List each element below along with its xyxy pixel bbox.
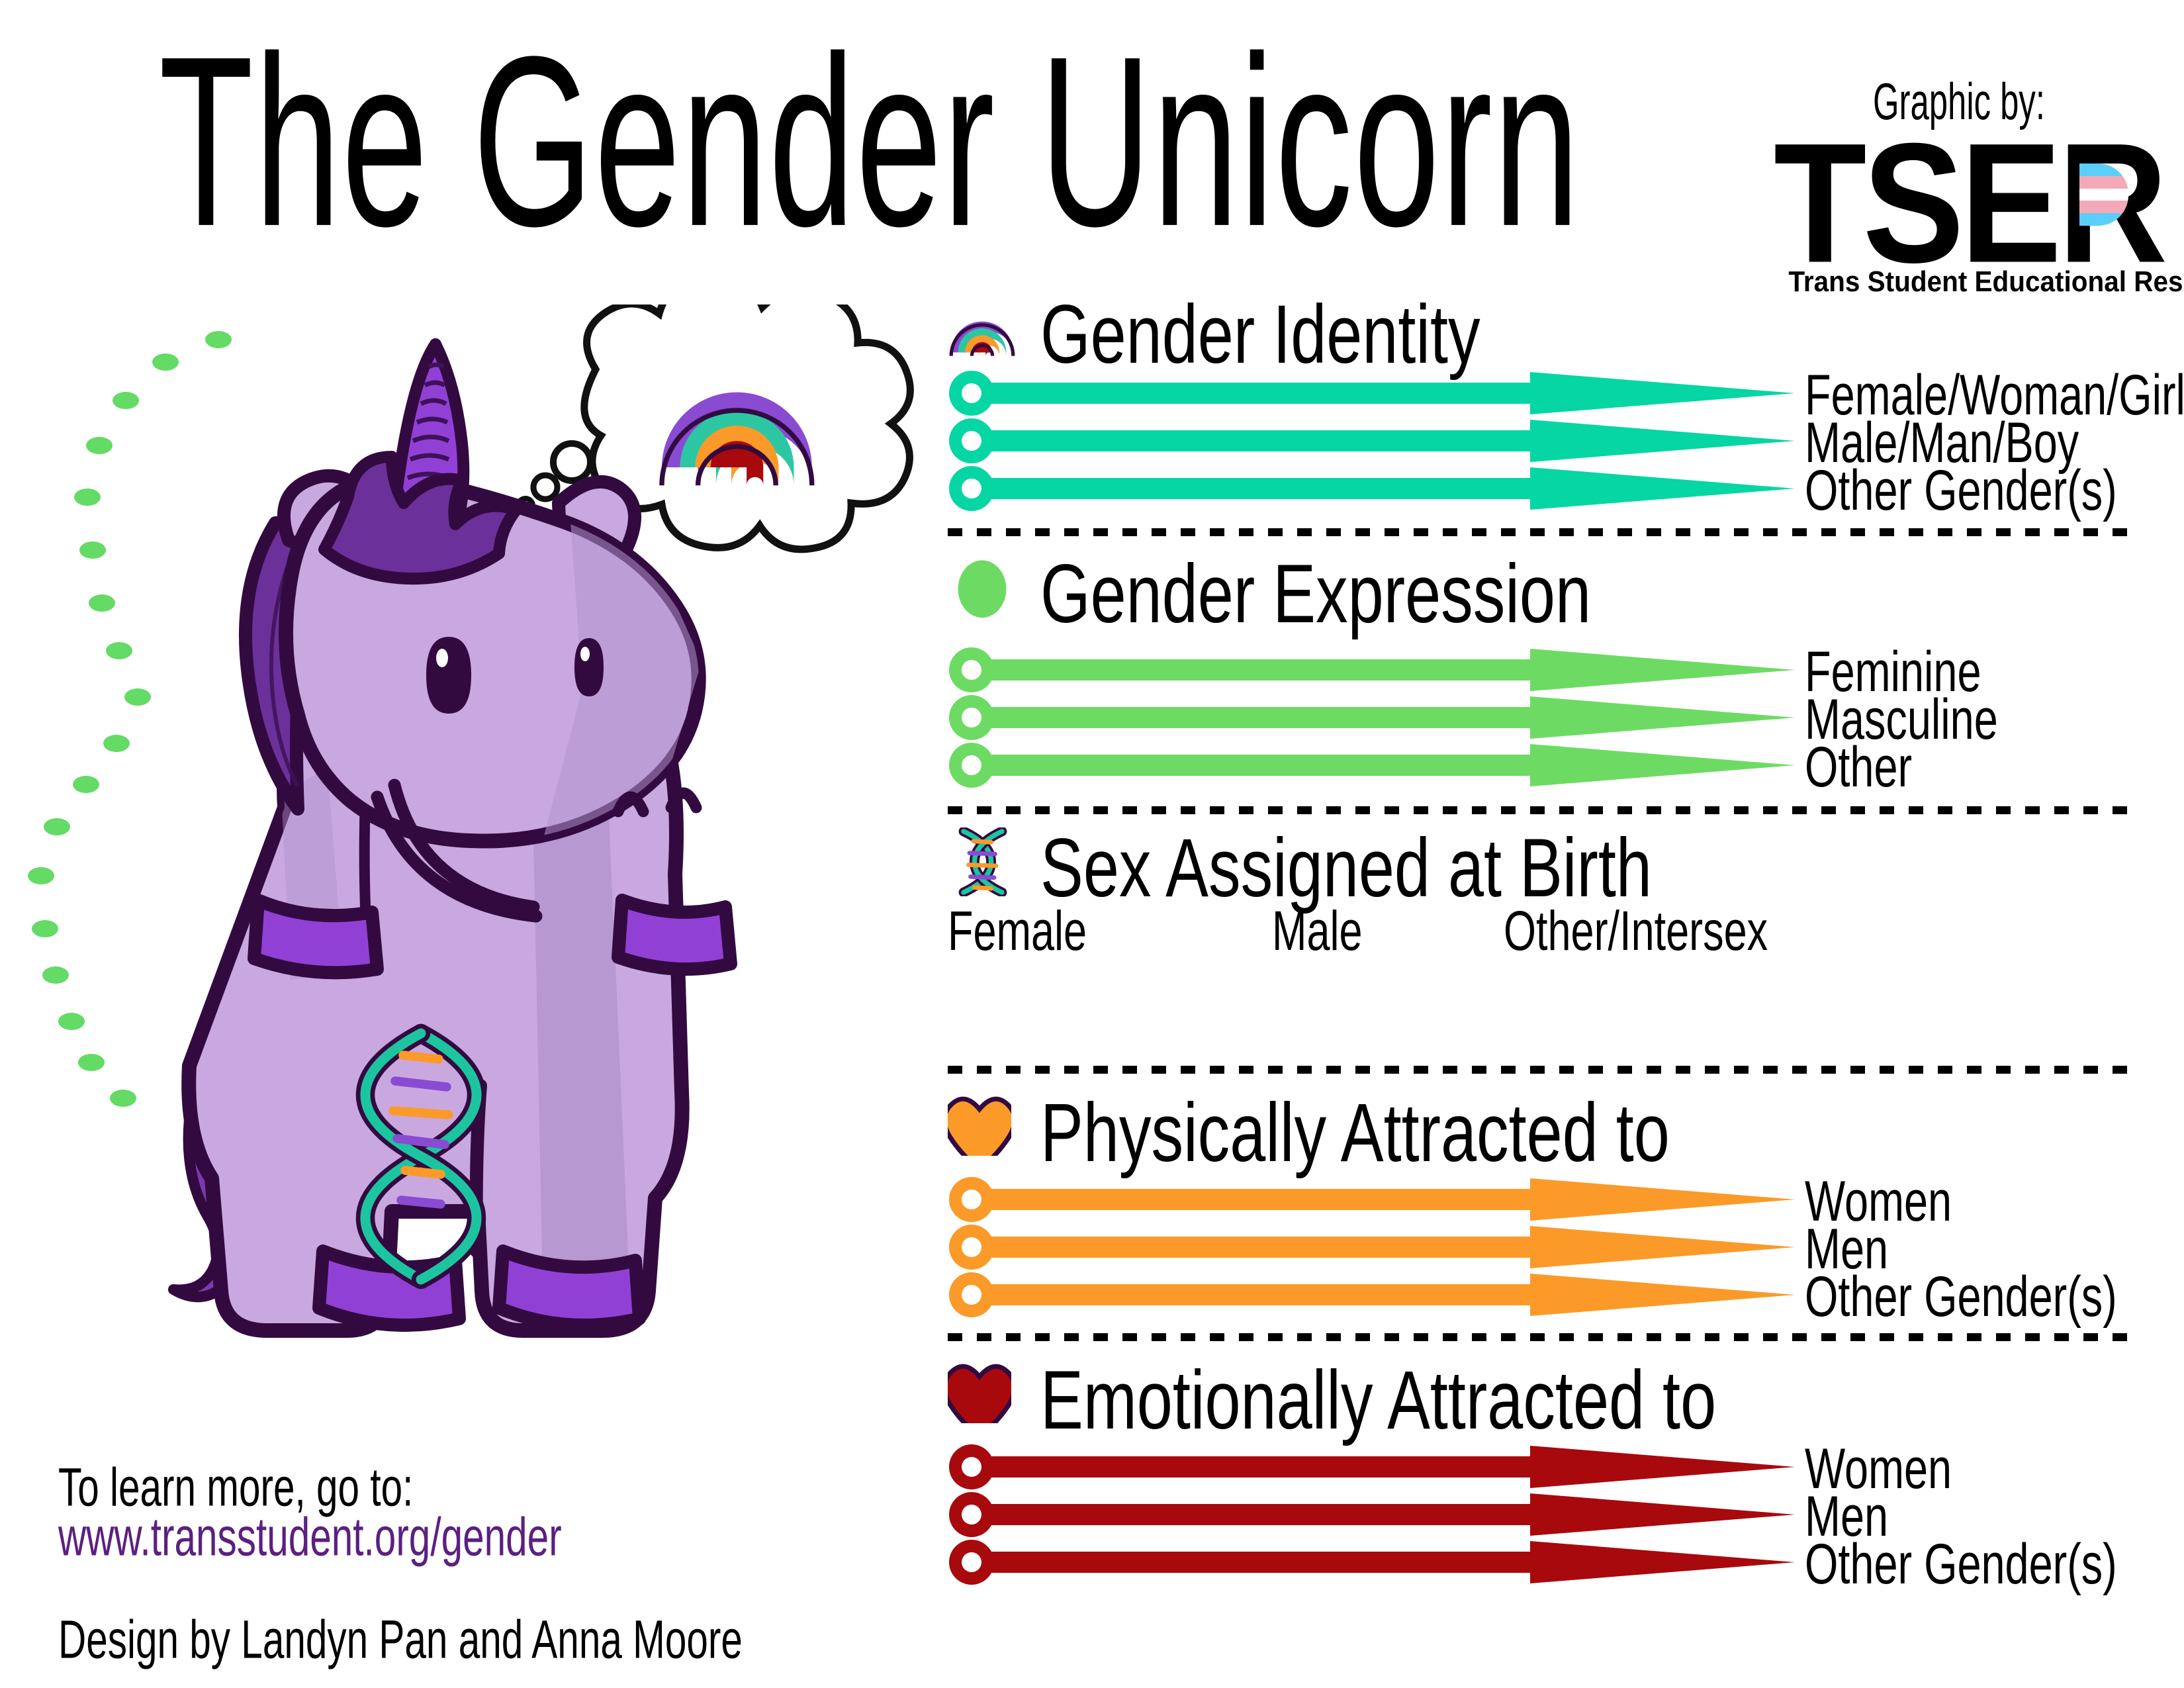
spectrum-row[interactable]: Masculine	[948, 694, 2132, 741]
transstudent-url-link[interactable]: www.transstudent.org/gender	[58, 1506, 562, 1568]
spectrum-rows: Women Men	[948, 1443, 2132, 1586]
section-header: Gender Identity	[948, 291, 2132, 369]
page-title: The Gender Unicorn	[159, 20, 1580, 262]
sab-options: Female Male Other/Intersex	[948, 899, 2132, 1064]
spectrum-arrow	[948, 1443, 1795, 1491]
spectrum-arrow	[948, 1176, 1795, 1223]
rainbow-icon	[948, 294, 1017, 363]
section-header: Sex Assigned at Birth	[948, 825, 2132, 894]
spectrum-arrow	[948, 417, 1795, 465]
spectrum-arrow	[948, 465, 1795, 512]
spectrum-arrow	[948, 1271, 1795, 1319]
design-credit: Design by Landyn Pan and Anna Moore	[58, 1609, 743, 1671]
spectrum-row[interactable]: Other Gender(s)	[948, 1271, 2132, 1319]
sab-option-male[interactable]: Male	[1272, 899, 1373, 964]
poster-canvas: The Gender Unicorn Graphic by: TSER Tran…	[0, 0, 2184, 1688]
spectrum-label: Other	[1805, 735, 1912, 800]
section-title: Gender Expression	[1040, 545, 1591, 641]
spectrum-arrow	[948, 694, 1795, 741]
spectrum-arrow	[948, 1538, 1795, 1586]
section-physically-attracted-to: Physically Attracted to Women	[948, 1090, 2132, 1319]
orange-heart-icon	[948, 1092, 1011, 1156]
spectrum-arrow	[948, 369, 1795, 417]
sab-label: Other/Intersex	[1504, 899, 1768, 962]
spectrum-label: Other Gender(s)	[1805, 458, 2117, 523]
spectrum-arrow	[948, 1491, 1795, 1538]
section-title: Physically Attracted to	[1040, 1084, 1670, 1180]
sab-option-female[interactable]: Female	[948, 899, 1102, 964]
sab-label: Male	[1272, 899, 1363, 962]
section-gender-identity: Gender Identity Female/Woman/Girl	[948, 291, 2132, 512]
section-gender-expression: Gender Expression Feminine	[948, 551, 2132, 789]
section-divider	[948, 1066, 2132, 1074]
section-divider	[948, 528, 2132, 536]
spectrum-rows: Women Men	[948, 1176, 2132, 1319]
dna-icon	[954, 827, 1011, 896]
spectrum-arrow	[948, 1223, 1795, 1271]
spectrum-rows: Female/Woman/Girl Male/Man/Boy	[948, 369, 2132, 512]
spectrum-rows: Feminine Masculine	[948, 646, 2132, 789]
spectrum-label: Other Gender(s)	[1805, 1264, 2117, 1329]
spectrum-row[interactable]: Other Gender(s)	[948, 1538, 2132, 1586]
sab-label: Female	[948, 899, 1087, 962]
red-heart-icon	[948, 1360, 1011, 1423]
section-emotionally-attracted-to: Emotionally Attracted to Women	[948, 1357, 2132, 1586]
tser-logo: Graphic by: TSER Trans Student Education…	[1774, 73, 2144, 299]
section-header: Physically Attracted to	[948, 1090, 2132, 1168]
spectrum-arrow	[948, 646, 1795, 694]
spectrum-row[interactable]: Women	[948, 1176, 2132, 1223]
tser-wordmark: TSER	[1774, 129, 2144, 261]
spectrum-row[interactable]: Other	[948, 741, 2132, 789]
section-header: Gender Expression	[948, 551, 2132, 629]
spectrum-row[interactable]: Women	[948, 1443, 2132, 1491]
section-divider	[948, 1333, 2132, 1341]
green-circle-icon	[948, 553, 1017, 622]
section-divider	[948, 806, 2132, 814]
section-title: Gender Identity	[1040, 286, 1480, 382]
spectrum-row[interactable]: Other Gender(s)	[948, 465, 2132, 512]
section-header: Emotionally Attracted to	[948, 1357, 2132, 1435]
sab-option-other-intersex[interactable]: Other/Intersex	[1504, 899, 1797, 964]
section-sex-assigned-at-birth: Sex Assigned at Birth Female Male Other/…	[948, 825, 2132, 1064]
section-title: Emotionally Attracted to	[1040, 1352, 1716, 1448]
spectrum-label: Other Gender(s)	[1805, 1532, 2117, 1597]
unicorn-illustration	[159, 305, 940, 1377]
spectrum-column: Gender Identity Female/Woman/Girl	[948, 291, 2132, 1586]
spectrum-arrow	[948, 741, 1795, 789]
